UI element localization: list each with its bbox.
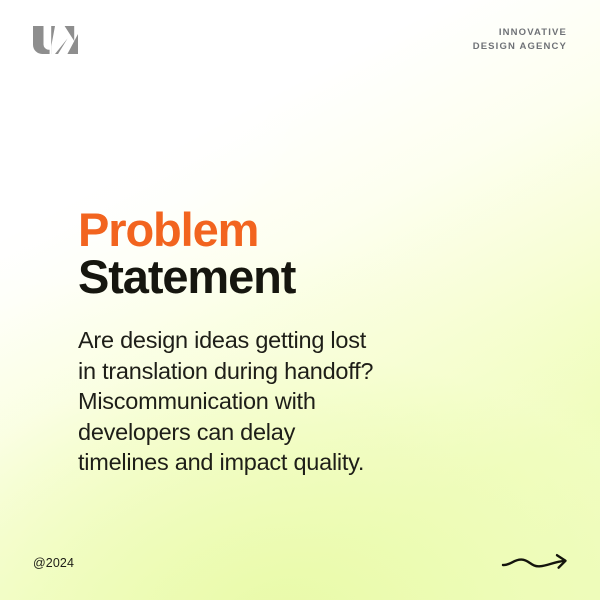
tagline-line-2: DESIGN AGENCY <box>473 40 567 54</box>
squiggly-arrow-right-icon[interactable] <box>500 548 572 576</box>
agency-tagline: INNOVATIVE DESIGN AGENCY <box>473 26 567 53</box>
body-line: timelines and impact quality. <box>78 447 373 478</box>
ux-monogram-logo[interactable] <box>33 26 78 54</box>
copyright-label: @2024 <box>33 556 74 570</box>
page-title: Problem Statement <box>78 206 295 300</box>
body-paragraph: Are design ideas getting lost in transla… <box>78 325 373 478</box>
slide-canvas: INNOVATIVE DESIGN AGENCY Problem Stateme… <box>0 0 600 600</box>
body-line: Are design ideas getting lost <box>78 325 373 356</box>
tagline-line-1: INNOVATIVE <box>473 26 567 40</box>
page-title-line-2: Statement <box>78 253 295 300</box>
body-line: developers can delay <box>78 417 373 448</box>
slide-content: INNOVATIVE DESIGN AGENCY Problem Stateme… <box>0 0 600 600</box>
page-title-line-1: Problem <box>78 206 295 253</box>
body-line: Miscommunication with <box>78 386 373 417</box>
body-line: in translation during handoff? <box>78 356 373 387</box>
